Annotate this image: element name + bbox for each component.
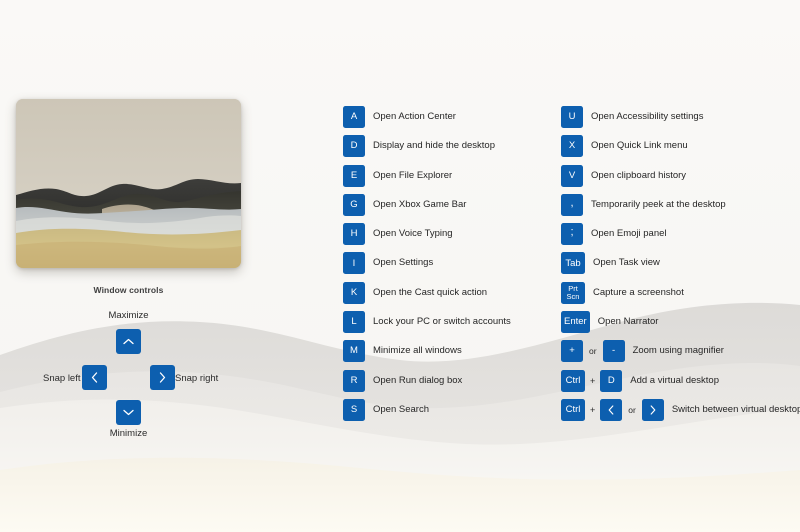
key-cap[interactable]: A xyxy=(343,106,365,128)
key-cap[interactable]: D xyxy=(343,135,365,157)
key-cap-ctrl[interactable]: Ctrl xyxy=(561,399,585,421)
key-group: U xyxy=(561,106,583,128)
wallpaper-thumbnail-image xyxy=(16,99,241,268)
shortcut-description: Capture a screenshot xyxy=(593,282,684,304)
shortcut-row: + or - Zoom using magnifier xyxy=(561,340,800,369)
key-group: D xyxy=(343,135,365,157)
shortcut-row: L Lock your PC or switch accounts xyxy=(343,311,511,340)
landscape-illustration xyxy=(16,99,241,268)
key-cap[interactable]: V xyxy=(561,165,583,187)
key-group: ; xyxy=(561,223,583,245)
chevron-up-icon xyxy=(123,338,134,345)
arrow-key-down[interactable] xyxy=(116,400,141,425)
key-cap[interactable]: S xyxy=(343,399,365,421)
shortcut-row: Ctrl + D Add a virtual desktop xyxy=(561,370,800,399)
key-separator-plus: + xyxy=(585,399,600,421)
window-controls-diagram: Maximize Minimize Snap left Snap right xyxy=(16,310,241,440)
key-separator-or: or xyxy=(583,340,603,362)
shortcut-row: U Open Accessibility settings xyxy=(561,106,800,135)
shortcut-description: Zoom using magnifier xyxy=(633,340,724,362)
shortcut-row: H Open Voice Typing xyxy=(343,223,511,252)
shortcut-description: Display and hide the desktop xyxy=(373,135,495,157)
key-group: Ctrl + or xyxy=(561,399,664,421)
key-group: X xyxy=(561,135,583,157)
key-cap[interactable]: U xyxy=(561,106,583,128)
shortcut-row: Ctrl + or Switch between virtual desktop… xyxy=(561,399,800,428)
wallpaper-thumbnail xyxy=(16,99,241,268)
key-group: K xyxy=(343,282,365,304)
key-cap[interactable]: D xyxy=(600,370,622,392)
shortcut-column-2: U Open Accessibility settings X Open Qui… xyxy=(561,106,800,428)
shortcut-description: Add a virtual desktop xyxy=(630,370,719,392)
shortcut-description: Open Search xyxy=(373,399,429,421)
shortcut-row: K Open the Cast quick action xyxy=(343,282,511,311)
key-group: H xyxy=(343,223,365,245)
shortcut-description: Open Settings xyxy=(373,252,433,274)
shortcut-row: Enter Open Narrator xyxy=(561,311,800,340)
shortcut-description: Open Voice Typing xyxy=(373,223,453,245)
key-cap-comma[interactable]: , xyxy=(561,194,583,216)
shortcut-description: Open Quick Link menu xyxy=(591,135,688,157)
key-cap-semicolon[interactable]: ; xyxy=(561,223,583,245)
key-separator-plus: + xyxy=(585,370,600,392)
snap-right-label: Snap right xyxy=(175,373,218,384)
shortcut-row: R Open Run dialog box xyxy=(343,370,511,399)
chevron-left-icon xyxy=(608,405,614,415)
key-group: L xyxy=(343,311,365,333)
key-cap-tab[interactable]: Tab xyxy=(561,252,585,274)
shortcut-row: D Display and hide the desktop xyxy=(343,135,511,164)
key-group: Enter xyxy=(561,311,590,333)
key-group: V xyxy=(561,165,583,187)
shortcut-description: Open clipboard history xyxy=(591,165,686,187)
shortcut-row: M Minimize all windows xyxy=(343,340,511,369)
shortcut-description: Open Narrator xyxy=(598,311,659,333)
window-controls-title: Window controls xyxy=(16,285,241,295)
shortcut-description: Open Run dialog box xyxy=(373,370,462,392)
shortcut-description: Temporarily peek at the desktop xyxy=(591,194,726,216)
key-group: I xyxy=(343,252,365,274)
key-group: R xyxy=(343,370,365,392)
key-separator-or: or xyxy=(622,399,642,421)
key-group: Prt Scn xyxy=(561,282,585,304)
key-cap[interactable]: L xyxy=(343,311,365,333)
key-cap[interactable]: E xyxy=(343,165,365,187)
shortcut-description: Open File Explorer xyxy=(373,165,452,187)
shortcut-row: V Open clipboard history xyxy=(561,165,800,194)
key-group: , xyxy=(561,194,583,216)
arrow-key-left[interactable] xyxy=(82,365,107,390)
shortcut-description: Open the Cast quick action xyxy=(373,282,487,304)
key-cap-enter[interactable]: Enter xyxy=(561,311,590,333)
shortcut-description: Open Emoji panel xyxy=(591,223,667,245)
chevron-right-icon xyxy=(650,405,656,415)
shortcut-row: X Open Quick Link menu xyxy=(561,135,800,164)
snap-left-label: Snap left xyxy=(43,373,81,384)
key-cap-minus[interactable]: - xyxy=(603,340,625,362)
shortcut-row: Prt Scn Capture a screenshot xyxy=(561,282,800,311)
shortcut-row: G Open Xbox Game Bar xyxy=(343,194,511,223)
shortcut-row: I Open Settings xyxy=(343,252,511,281)
shortcut-description: Minimize all windows xyxy=(373,340,462,362)
key-cap-arrow-right[interactable] xyxy=(642,399,664,421)
shortcut-row: E Open File Explorer xyxy=(343,165,511,194)
key-cap-print-screen[interactable]: Prt Scn xyxy=(561,282,585,304)
chevron-left-icon xyxy=(91,372,98,383)
shortcut-column-1: A Open Action Center D Display and hide … xyxy=(343,106,511,428)
shortcut-row: ; Open Emoji panel xyxy=(561,223,800,252)
key-cap[interactable]: K xyxy=(343,282,365,304)
minimize-label: Minimize xyxy=(16,428,241,439)
key-cap[interactable]: X xyxy=(561,135,583,157)
maximize-label: Maximize xyxy=(16,310,241,321)
key-cap[interactable]: M xyxy=(343,340,365,362)
key-group: A xyxy=(343,106,365,128)
key-cap-line-2: Scn xyxy=(567,293,580,301)
key-group: M xyxy=(343,340,365,362)
shortcut-description: Open Action Center xyxy=(373,106,456,128)
arrow-key-right[interactable] xyxy=(150,365,175,390)
shortcut-row: , Temporarily peek at the desktop xyxy=(561,194,800,223)
shortcut-row: S Open Search xyxy=(343,399,511,428)
key-group: + or - xyxy=(561,340,625,362)
key-cap[interactable]: R xyxy=(343,370,365,392)
key-group: Ctrl + D xyxy=(561,370,622,392)
chevron-down-icon xyxy=(123,409,134,416)
chevron-right-icon xyxy=(159,372,166,383)
key-group: Tab xyxy=(561,252,585,274)
key-group: G xyxy=(343,194,365,216)
shortcut-row: Tab Open Task view xyxy=(561,252,800,281)
key-group: E xyxy=(343,165,365,187)
key-cap[interactable]: I xyxy=(343,252,365,274)
key-cap-ctrl[interactable]: Ctrl xyxy=(561,370,585,392)
key-cap[interactable]: H xyxy=(343,223,365,245)
key-group: S xyxy=(343,399,365,421)
shortcut-description: Open Accessibility settings xyxy=(591,106,703,128)
arrow-key-up[interactable] xyxy=(116,329,141,354)
shortcut-description: Open Xbox Game Bar xyxy=(373,194,466,216)
key-cap[interactable]: G xyxy=(343,194,365,216)
key-cap-arrow-left[interactable] xyxy=(600,399,622,421)
shortcut-description: Switch between virtual desktops xyxy=(672,399,800,421)
shortcut-description: Lock your PC or switch accounts xyxy=(373,311,511,333)
key-cap-plus[interactable]: + xyxy=(561,340,583,362)
shortcut-description: Open Task view xyxy=(593,252,660,274)
shortcut-row: A Open Action Center xyxy=(343,106,511,135)
